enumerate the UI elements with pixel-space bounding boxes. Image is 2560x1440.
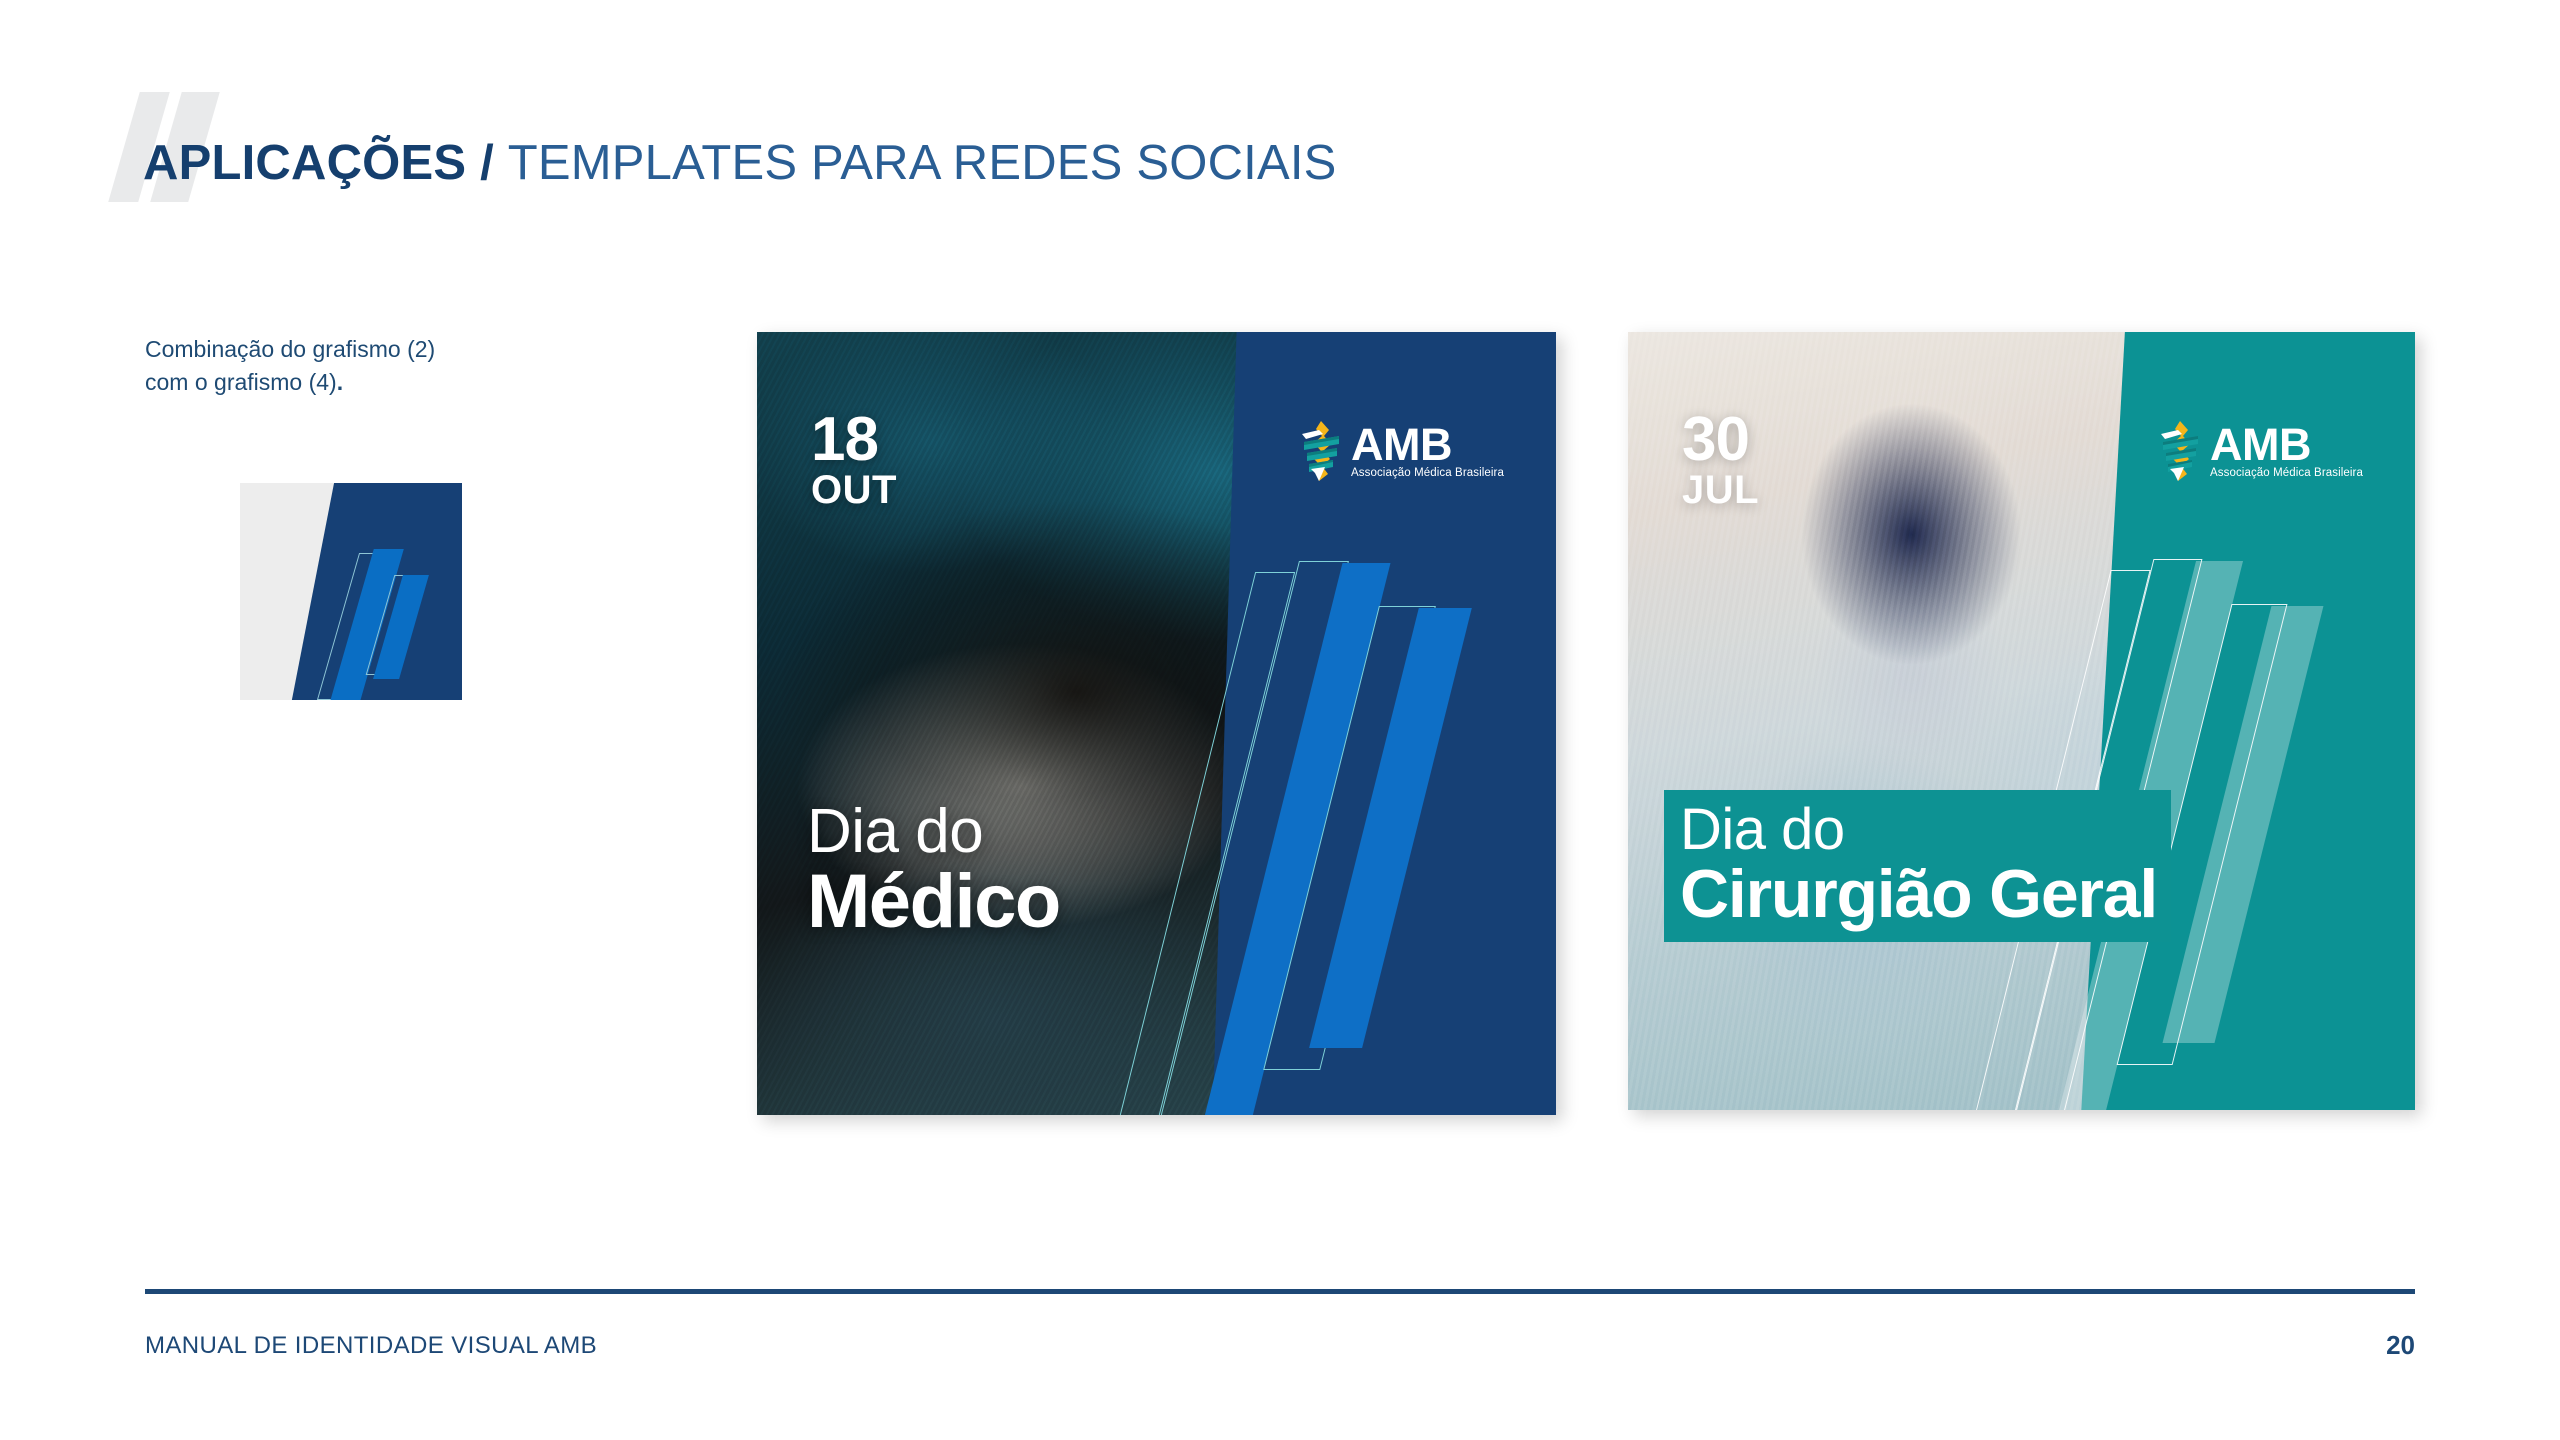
amb-logo-lockup: AMB Associação Médica Brasileira: [1299, 420, 1504, 482]
caption-line-2: com o grafismo (4): [145, 369, 337, 395]
card-headline: Dia do Cirurgião Geral: [1664, 790, 2171, 942]
amb-wordmark: AMB Associação Médica Brasileira: [1351, 424, 1504, 480]
amb-caduceus-ribbon-icon: [2158, 420, 2202, 482]
amb-subtitle: Associação Médica Brasileira: [2210, 467, 2363, 480]
page-title-separator: /: [466, 136, 507, 190]
caption-line-1: Combinação do grafismo (2): [145, 336, 435, 362]
event-date-month: JUL: [1682, 470, 1759, 510]
event-date-day: 18: [811, 410, 897, 470]
amb-letters: AMB: [1351, 424, 1504, 465]
amb-logo-lockup: AMB Associação Médica Brasileira: [2158, 420, 2363, 482]
footer-document-title: MANUAL DE IDENTIDADE VISUAL AMB: [145, 1332, 597, 1360]
slide-header: APLICAÇÕES / TEMPLATES PARA REDES SOCIAI…: [0, 0, 2560, 250]
page-title-strong: APLICAÇÕES: [143, 136, 466, 190]
card-headline-main: Cirurgião Geral: [1680, 860, 2157, 928]
slide-canvas: APLICAÇÕES / TEMPLATES PARA REDES SOCIAI…: [0, 0, 2560, 1440]
event-date-month: OUT: [811, 470, 897, 510]
caption-period: .: [337, 369, 343, 395]
page-title: APLICAÇÕES / TEMPLATES PARA REDES SOCIAI…: [143, 139, 1337, 188]
card-headline: Dia do Médico: [807, 800, 1060, 940]
page-title-light: TEMPLATES PARA REDES SOCIAIS: [508, 136, 1337, 190]
footer-page-number: 20: [2386, 1330, 2415, 1361]
event-date: 18 OUT: [811, 410, 897, 510]
amb-subtitle: Associação Médica Brasileira: [1351, 467, 1504, 480]
card-headline-main: Médico: [807, 864, 1060, 940]
event-date-day: 30: [1682, 410, 1759, 470]
amb-letters: AMB: [2210, 424, 2363, 465]
event-date: 30 JUL: [1682, 410, 1759, 510]
grafismo-combination-sample: [240, 483, 462, 700]
caption-text: Combinação do grafismo (2) com o grafism…: [145, 333, 575, 398]
footer-divider: [145, 1289, 2415, 1294]
card-headline-top: Dia do: [1680, 800, 2157, 860]
amb-caduceus-ribbon-icon: [1299, 420, 1343, 482]
social-template-card-cirurgiao-geral[interactable]: 30 JUL AMB Associação Médica Brasileira …: [1628, 332, 2415, 1110]
card-headline-top: Dia do: [807, 800, 1060, 864]
amb-wordmark: AMB Associação Médica Brasileira: [2210, 424, 2363, 480]
social-template-card-medico[interactable]: 18 OUT AMB Associação Médica Brasileira …: [757, 332, 1556, 1115]
